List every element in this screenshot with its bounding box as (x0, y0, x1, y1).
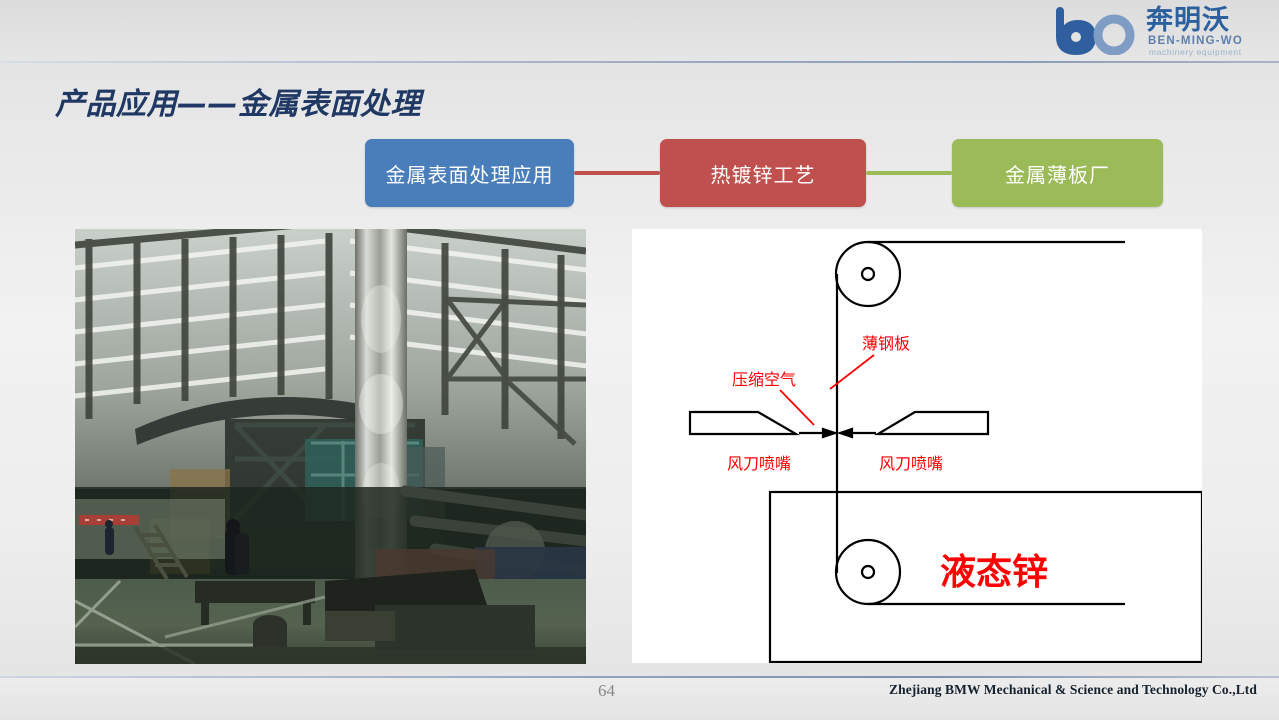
page-title: 产品应用——金属表面处理 (55, 79, 421, 123)
flow-connector-2 (866, 171, 952, 175)
header-divider (0, 61, 1279, 63)
logo-name-cn: 奔明沃 (1146, 6, 1230, 35)
slide: 奔明沃 BEN-MING-WO machinery equipment 产品应用… (0, 0, 1279, 720)
flow-connector-1 (574, 171, 660, 175)
flow-box-process[interactable]: 热镀锌工艺 (660, 139, 866, 207)
page-number: 64 (598, 681, 615, 701)
label-steel-sheet: 薄钢板 (862, 334, 910, 353)
galvanizing-schematic: 薄钢板 压缩空气 风刀喷嘴 风刀喷嘴 液态锌 (632, 229, 1202, 663)
label-air-knife-left: 风刀喷嘴 (727, 454, 791, 473)
label-liquid-zinc: 液态锌 (940, 552, 1048, 593)
workshop-photo (75, 229, 586, 664)
logo-tagline: machinery equipment (1149, 48, 1242, 57)
flow-box-factory[interactable]: 金属薄板厂 (952, 139, 1163, 207)
logo-name-en: BEN-MING-WO (1148, 35, 1243, 47)
footer-company-name: Zhejiang BMW Mechanical & Science and Te… (889, 682, 1257, 698)
flow-box-application[interactable]: 金属表面处理应用 (365, 139, 574, 207)
bo-monogram-icon (1052, 7, 1144, 55)
company-logo: 奔明沃 BEN-MING-WO machinery equipment (1050, 5, 1265, 57)
label-air-knife-right: 风刀喷嘴 (879, 454, 943, 473)
label-compressed-air: 压缩空气 (732, 370, 796, 389)
